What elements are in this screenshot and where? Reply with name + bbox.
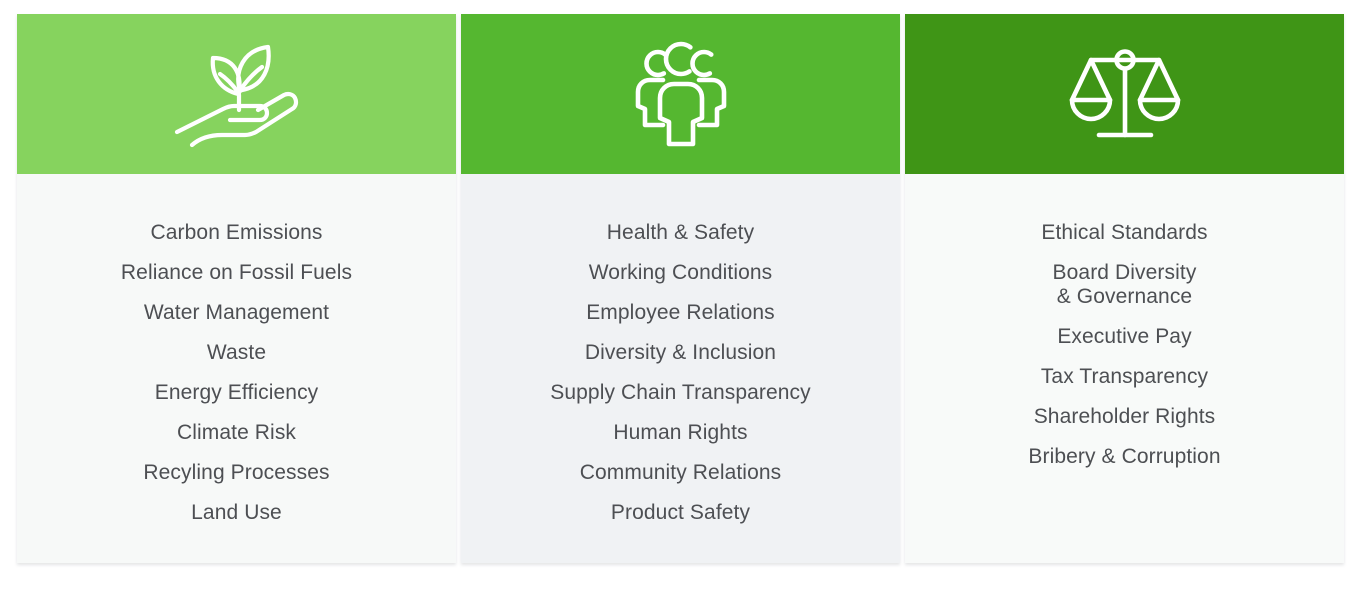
list-item: Executive Pay bbox=[1057, 325, 1191, 349]
hand-holding-plant-icon bbox=[172, 38, 302, 150]
list-item: Carbon Emissions bbox=[151, 221, 323, 245]
list-item: Health & Safety bbox=[607, 221, 754, 245]
list-item: Community Relations bbox=[580, 461, 781, 485]
list-item: Employee Relations bbox=[586, 301, 775, 325]
group-of-people-icon bbox=[629, 39, 733, 149]
pillar-governance-header bbox=[905, 14, 1344, 174]
list-item: Climate Risk bbox=[177, 421, 296, 445]
list-item: Tax Transparency bbox=[1041, 365, 1208, 389]
pillar-social: Health & Safety Working Conditions Emplo… bbox=[461, 14, 900, 563]
list-item: Waste bbox=[207, 341, 266, 365]
list-item: Supply Chain Transparency bbox=[550, 381, 810, 405]
pillar-governance-factor-list: Ethical Standards Board Diversity & Gove… bbox=[905, 174, 1344, 563]
esg-pillars-board: Carbon Emissions Reliance on Fossil Fuel… bbox=[17, 14, 1344, 563]
pillar-environmental: Carbon Emissions Reliance on Fossil Fuel… bbox=[17, 14, 456, 563]
pillar-social-factor-list: Health & Safety Working Conditions Emplo… bbox=[461, 174, 900, 563]
pillar-social-header bbox=[461, 14, 900, 174]
pillar-governance: Ethical Standards Board Diversity & Gove… bbox=[905, 14, 1344, 563]
list-item: Recyling Processes bbox=[143, 461, 329, 485]
list-item: Human Rights bbox=[613, 421, 747, 445]
list-item: Ethical Standards bbox=[1041, 221, 1207, 245]
list-item: Water Management bbox=[144, 301, 329, 325]
list-item: Diversity & Inclusion bbox=[585, 341, 776, 365]
pillar-environmental-header bbox=[17, 14, 456, 174]
list-item: Shareholder Rights bbox=[1034, 405, 1216, 429]
list-item: Energy Efficiency bbox=[155, 381, 319, 405]
pillar-environmental-factor-list: Carbon Emissions Reliance on Fossil Fuel… bbox=[17, 174, 456, 563]
balance-scales-icon bbox=[1069, 38, 1181, 150]
list-item: Reliance on Fossil Fuels bbox=[121, 261, 352, 285]
list-item: Board Diversity & Governance bbox=[1053, 261, 1197, 309]
list-item: Bribery & Corruption bbox=[1028, 445, 1220, 469]
list-item: Land Use bbox=[191, 501, 282, 525]
list-item: Working Conditions bbox=[589, 261, 773, 285]
list-item: Product Safety bbox=[611, 501, 750, 525]
